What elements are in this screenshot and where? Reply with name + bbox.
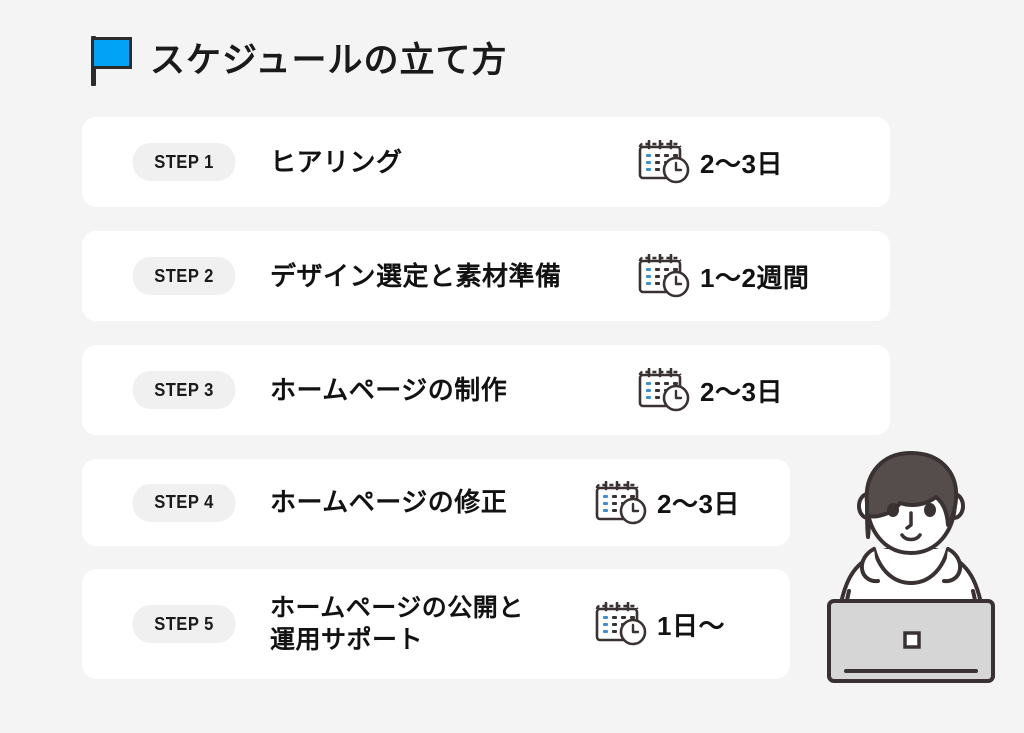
step-duration: 2〜3日 bbox=[700, 372, 783, 409]
page-title: スケジュールの立て方 bbox=[150, 43, 508, 78]
step-duration: 2〜3日 bbox=[657, 484, 740, 521]
step-badge: STEP 3 bbox=[132, 371, 235, 409]
calendar-clock-icon bbox=[595, 481, 651, 525]
step-label: ホームページの修正 bbox=[270, 486, 507, 519]
step-duration-group: 2〜3日 bbox=[638, 368, 783, 412]
step-duration-group: 1日〜 bbox=[595, 602, 725, 646]
person-with-laptop-illustration bbox=[806, 443, 1016, 689]
step-label: ホームページの公開と 運用サポート bbox=[270, 592, 524, 657]
calendar-clock-icon bbox=[638, 368, 694, 412]
step-badge: STEP 5 bbox=[132, 605, 235, 643]
step-card: STEP 1 ヒアリング 2〜3日 bbox=[82, 117, 890, 207]
step-label: ヒアリング bbox=[270, 146, 403, 179]
step-card: STEP 2 デザイン選定と素材準備 1〜2週間 bbox=[82, 231, 890, 321]
step-label: デザイン選定と素材準備 bbox=[270, 260, 562, 293]
step-badge: STEP 4 bbox=[132, 484, 235, 522]
step-duration-group: 1〜2週間 bbox=[638, 254, 809, 298]
page-title-row: スケジュールの立て方 bbox=[88, 30, 508, 90]
step-duration-group: 2〜3日 bbox=[638, 140, 783, 184]
step-card: STEP 5 ホームページの公開と 運用サポート 1日〜 bbox=[82, 569, 790, 679]
flag-icon bbox=[88, 34, 136, 86]
step-duration: 2〜3日 bbox=[700, 144, 783, 181]
infographic-canvas: スケジュールの立て方 STEP 1 ヒアリング 2〜3日 bbox=[0, 0, 1024, 733]
calendar-clock-icon bbox=[638, 140, 694, 184]
calendar-clock-icon bbox=[595, 602, 651, 646]
step-duration: 1〜2週間 bbox=[700, 258, 809, 295]
step-card: STEP 4 ホームページの修正 2〜3日 bbox=[82, 459, 790, 546]
step-card: STEP 3 ホームページの制作 2〜3日 bbox=[82, 345, 890, 435]
step-duration-group: 2〜3日 bbox=[595, 481, 740, 525]
step-badge: STEP 1 bbox=[132, 143, 235, 181]
step-badge: STEP 2 bbox=[132, 257, 235, 295]
step-duration: 1日〜 bbox=[657, 606, 725, 643]
step-label: ホームページの制作 bbox=[270, 374, 507, 407]
calendar-clock-icon bbox=[638, 254, 694, 298]
